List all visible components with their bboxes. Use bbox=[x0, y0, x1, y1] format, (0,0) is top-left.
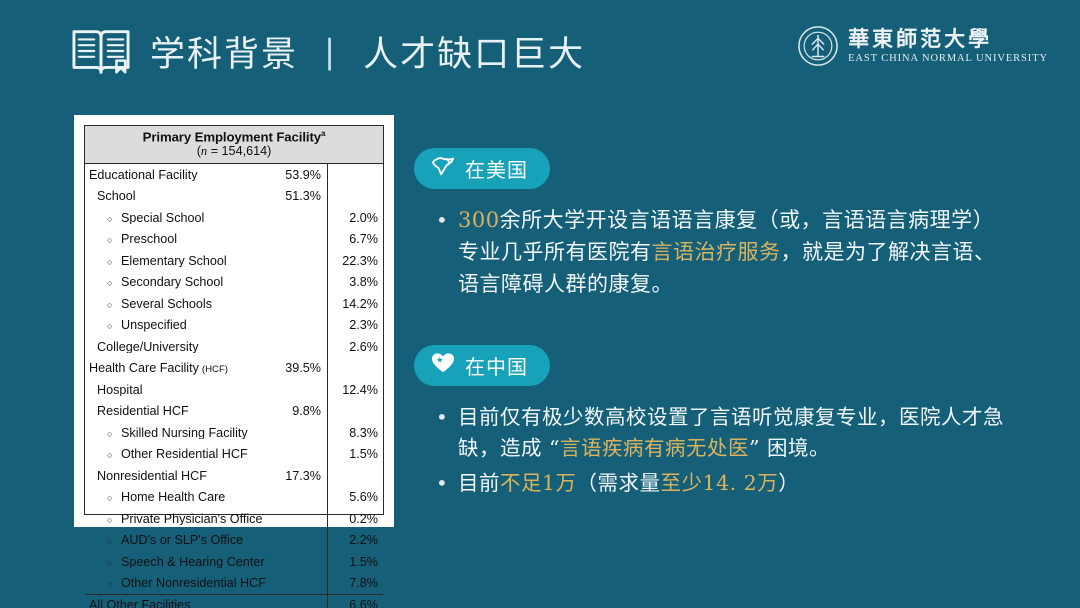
table-row: ○Secondary School3.8% bbox=[85, 272, 383, 294]
highlighted-text: 300 bbox=[458, 208, 500, 232]
table-cell-label: College/University bbox=[85, 341, 327, 354]
table-cell-percent: 12.4% bbox=[327, 379, 383, 401]
badge-label: 在中国 bbox=[465, 351, 528, 380]
slide-root: 学科背景 | 人才缺口巨大 華東師范大學 EAST CHINA NORMAL U… bbox=[0, 0, 1080, 608]
bullet-item: •目前仅有极少数高校设置了言语听觉康复专业，医院人才急缺，造成 “言语疾病有病无… bbox=[428, 402, 1014, 464]
content-section: 在中国•目前仅有极少数高校设置了言语听觉康复专业，医院人才急缺，造成 “言语疾病… bbox=[414, 345, 1014, 499]
table-header: Primary Employment Facilitya (n = 154,61… bbox=[85, 126, 383, 164]
circle-bullet-icon: ○ bbox=[107, 236, 121, 245]
table-cell-label: Nonresidential HCF17.3% bbox=[85, 470, 327, 483]
table-title-superscript: a bbox=[321, 129, 325, 138]
slide-header: 学科背景 | 人才缺口巨大 bbox=[70, 22, 585, 80]
table-cell-percent: 14.2% bbox=[327, 293, 383, 315]
bullet-item: •目前不足1万（需求量至少14. 2万） bbox=[428, 468, 1014, 499]
bullet-item: •300余所大学开设言语语言康复（或，言语语言病理学）专业几乎所有医院有言语治疗… bbox=[428, 205, 1014, 301]
section-body: •300余所大学开设言语语言康复（或，言语语言病理学）专业几乎所有医院有言语治疗… bbox=[414, 205, 1014, 301]
table-row: All Other Facilities6.6% bbox=[85, 594, 383, 608]
table-row: Nonresidential HCF17.3% bbox=[85, 465, 383, 487]
table-cell-percent: 0.2% bbox=[327, 508, 383, 530]
row-label: Home Health Care bbox=[121, 491, 225, 504]
highlighted-text: 言语治疗服务 bbox=[652, 240, 781, 264]
table-row: ○Skilled Nursing Facility8.3% bbox=[85, 422, 383, 444]
employment-table-card: Primary Employment Facilitya (n = 154,61… bbox=[74, 115, 394, 527]
employment-table: Primary Employment Facilitya (n = 154,61… bbox=[84, 125, 384, 515]
table-title: Primary Employment Facilitya bbox=[85, 129, 383, 144]
table-row: ○Other Residential HCF1.5% bbox=[85, 444, 383, 466]
circle-bullet-icon: ○ bbox=[107, 537, 121, 546]
table-cell-label: School51.3% bbox=[85, 190, 327, 203]
table-cell-label: Hospital bbox=[85, 384, 327, 397]
table-row: ○Speech & Hearing Center1.5% bbox=[85, 551, 383, 573]
table-row: College/University2.6% bbox=[85, 336, 383, 358]
table-row: Educational Facility53.9% bbox=[85, 164, 383, 186]
table-cell-percent: 3.8% bbox=[327, 272, 383, 294]
content-column: 在美国•300余所大学开设言语语言康复（或，言语语言病理学）专业几乎所有医院有言… bbox=[414, 148, 1014, 499]
title-separator: | bbox=[320, 32, 341, 71]
row-label: Private Physician's Office bbox=[121, 513, 262, 526]
circle-bullet-icon: ○ bbox=[107, 301, 121, 310]
globe-map-icon bbox=[430, 154, 456, 183]
highlighted-text: 至少14. 2万 bbox=[661, 471, 779, 495]
table-row: ○Elementary School22.3% bbox=[85, 250, 383, 272]
row-label: Secondary School bbox=[121, 276, 223, 289]
table-row: ○Several Schools14.2% bbox=[85, 293, 383, 315]
table-row: ○Unspecified2.3% bbox=[85, 315, 383, 337]
table-row: ○Preschool6.7% bbox=[85, 229, 383, 251]
table-cell-percent: 1.5% bbox=[327, 551, 383, 573]
circle-bullet-icon: ○ bbox=[107, 494, 121, 503]
table-cell-percent: 2.0% bbox=[327, 207, 383, 229]
row-inline-percent: 39.5% bbox=[285, 362, 327, 375]
row-label-abbrev: (HCF) bbox=[202, 365, 228, 375]
table-row: Residential HCF9.8% bbox=[85, 401, 383, 423]
circle-bullet-icon: ○ bbox=[107, 279, 121, 288]
bullet-text: 目前仅有极少数高校设置了言语听觉康复专业，医院人才急缺，造成 “言语疾病有病无处… bbox=[458, 402, 1014, 464]
table-cell-label: ○AUD's or SLP's Office bbox=[85, 534, 327, 547]
table-cell-percent bbox=[327, 401, 383, 423]
table-cell-label: ○Preschool bbox=[85, 233, 327, 246]
row-label: AUD's or SLP's Office bbox=[121, 534, 243, 547]
open-book-icon bbox=[70, 22, 132, 80]
section-badge-china[interactable]: 在中国 bbox=[414, 345, 550, 386]
circle-bullet-icon: ○ bbox=[107, 451, 121, 460]
row-label: Skilled Nursing Facility bbox=[121, 427, 248, 440]
title-right: 人才缺口巨大 bbox=[363, 26, 585, 77]
circle-bullet-icon: ○ bbox=[107, 516, 121, 525]
table-cell-percent bbox=[327, 186, 383, 208]
table-cell-label: ○Unspecified bbox=[85, 319, 327, 332]
row-label: College/University bbox=[97, 341, 199, 354]
row-label: Hospital bbox=[97, 384, 143, 397]
table-cell-label: Educational Facility53.9% bbox=[85, 169, 327, 182]
table-cell-percent: 6.6% bbox=[327, 595, 383, 608]
highlighted-text: 言语疾病有病无处医 bbox=[560, 436, 749, 460]
logo-wordmark: 華東師范大學 EAST CHINA NORMAL UNIVERSITY bbox=[848, 28, 1048, 63]
table-row: ○Special School2.0% bbox=[85, 207, 383, 229]
circle-bullet-icon: ○ bbox=[107, 258, 121, 267]
table-cell-label: ○Private Physician's Office bbox=[85, 513, 327, 526]
table-cell-label: ○Skilled Nursing Facility bbox=[85, 427, 327, 440]
bullet-marker-icon: • bbox=[428, 205, 458, 235]
heart-icon bbox=[430, 351, 456, 380]
table-cell-percent bbox=[327, 164, 383, 186]
bullet-text: 300余所大学开设言语语言康复（或，言语语言病理学）专业几乎所有医院有言语治疗服… bbox=[458, 205, 1014, 301]
badge-label: 在美国 bbox=[465, 154, 528, 183]
section-badge-usa[interactable]: 在美国 bbox=[414, 148, 550, 189]
row-label: School bbox=[97, 190, 136, 203]
row-label: Educational Facility bbox=[89, 169, 198, 182]
row-label: Residential HCF bbox=[97, 405, 189, 418]
table-subtitle: (n = 154,614) bbox=[85, 144, 383, 159]
row-inline-percent: 53.9% bbox=[285, 169, 327, 182]
row-label: Nonresidential HCF bbox=[97, 470, 207, 483]
row-label: Other Residential HCF bbox=[121, 448, 248, 461]
row-label: Other Nonresidential HCF bbox=[121, 577, 266, 590]
page-title: 学科背景 | 人才缺口巨大 bbox=[150, 26, 585, 77]
university-logo: 華東師范大學 EAST CHINA NORMAL UNIVERSITY bbox=[797, 25, 1048, 67]
row-label: Health Care Facility bbox=[89, 362, 199, 375]
table-cell-percent bbox=[327, 358, 383, 380]
plain-text: ” 困境。 bbox=[749, 436, 830, 460]
logo-name-en: EAST CHINA NORMAL UNIVERSITY bbox=[848, 53, 1048, 64]
row-label: Several Schools bbox=[121, 298, 212, 311]
row-label: Special School bbox=[121, 212, 204, 225]
title-left: 学科背景 bbox=[150, 26, 298, 77]
table-cell-percent bbox=[327, 465, 383, 487]
table-cell-percent: 7.8% bbox=[327, 573, 383, 595]
table-cell-label: ○Speech & Hearing Center bbox=[85, 556, 327, 569]
table-cell-percent: 8.3% bbox=[327, 422, 383, 444]
table-cell-label: ○Several Schools bbox=[85, 298, 327, 311]
circle-bullet-icon: ○ bbox=[107, 215, 121, 224]
table-cell-percent: 22.3% bbox=[327, 250, 383, 272]
table-row: Hospital12.4% bbox=[85, 379, 383, 401]
table-cell-label: Residential HCF9.8% bbox=[85, 405, 327, 418]
section-body: •目前仅有极少数高校设置了言语听觉康复专业，医院人才急缺，造成 “言语疾病有病无… bbox=[414, 402, 1014, 499]
table-cell-percent: 2.6% bbox=[327, 336, 383, 358]
row-label: All Other Facilities bbox=[89, 599, 190, 608]
table-cell-percent: 1.5% bbox=[327, 444, 383, 466]
highlighted-text: 不足1万 bbox=[500, 471, 577, 495]
row-label: Speech & Hearing Center bbox=[121, 556, 265, 569]
table-cell-percent: 6.7% bbox=[327, 229, 383, 251]
bullet-text: 目前不足1万（需求量至少14. 2万） bbox=[458, 468, 1014, 499]
table-cell-percent: 2.2% bbox=[327, 530, 383, 552]
plain-text: （需求量 bbox=[577, 471, 661, 495]
circle-bullet-icon: ○ bbox=[107, 430, 121, 439]
table-row: School51.3% bbox=[85, 186, 383, 208]
circle-bullet-icon: ○ bbox=[107, 559, 121, 568]
table-row: ○Home Health Care5.6% bbox=[85, 487, 383, 509]
content-section: 在美国•300余所大学开设言语语言康复（或，言语语言病理学）专业几乎所有医院有言… bbox=[414, 148, 1014, 301]
university-seal-icon bbox=[797, 25, 839, 67]
table-row: ○Private Physician's Office0.2% bbox=[85, 508, 383, 530]
table-cell-label: ○Special School bbox=[85, 212, 327, 225]
table-cell-label: ○Secondary School bbox=[85, 276, 327, 289]
plain-text: ） bbox=[778, 471, 799, 495]
table-cell-label: ○Elementary School bbox=[85, 255, 327, 268]
row-label: Elementary School bbox=[121, 255, 227, 268]
table-cell-percent: 2.3% bbox=[327, 315, 383, 337]
row-inline-percent: 17.3% bbox=[285, 470, 327, 483]
row-inline-percent: 51.3% bbox=[285, 190, 327, 203]
plain-text: 目前 bbox=[458, 471, 500, 495]
row-inline-percent: 9.8% bbox=[292, 405, 327, 418]
table-body: Educational Facility53.9%School51.3%○Spe… bbox=[85, 164, 383, 608]
row-label: Unspecified bbox=[121, 319, 187, 332]
logo-name-cn: 華東師范大學 bbox=[848, 28, 1048, 50]
table-row: ○AUD's or SLP's Office2.2% bbox=[85, 530, 383, 552]
bullet-marker-icon: • bbox=[428, 468, 458, 498]
bullet-marker-icon: • bbox=[428, 402, 458, 432]
table-cell-label: ○Home Health Care bbox=[85, 491, 327, 504]
table-row: ○Other Nonresidential HCF7.8% bbox=[85, 573, 383, 595]
table-cell-label: ○Other Nonresidential HCF bbox=[85, 577, 327, 590]
circle-bullet-icon: ○ bbox=[107, 322, 121, 331]
table-cell-label: ○Other Residential HCF bbox=[85, 448, 327, 461]
table-row: Health Care Facility(HCF)39.5% bbox=[85, 358, 383, 380]
table-cell-label: Health Care Facility(HCF)39.5% bbox=[85, 362, 327, 375]
circle-bullet-icon: ○ bbox=[107, 580, 121, 589]
row-label: Preschool bbox=[121, 233, 177, 246]
table-cell-percent: 5.6% bbox=[327, 487, 383, 509]
table-cell-label: All Other Facilities bbox=[85, 599, 327, 608]
